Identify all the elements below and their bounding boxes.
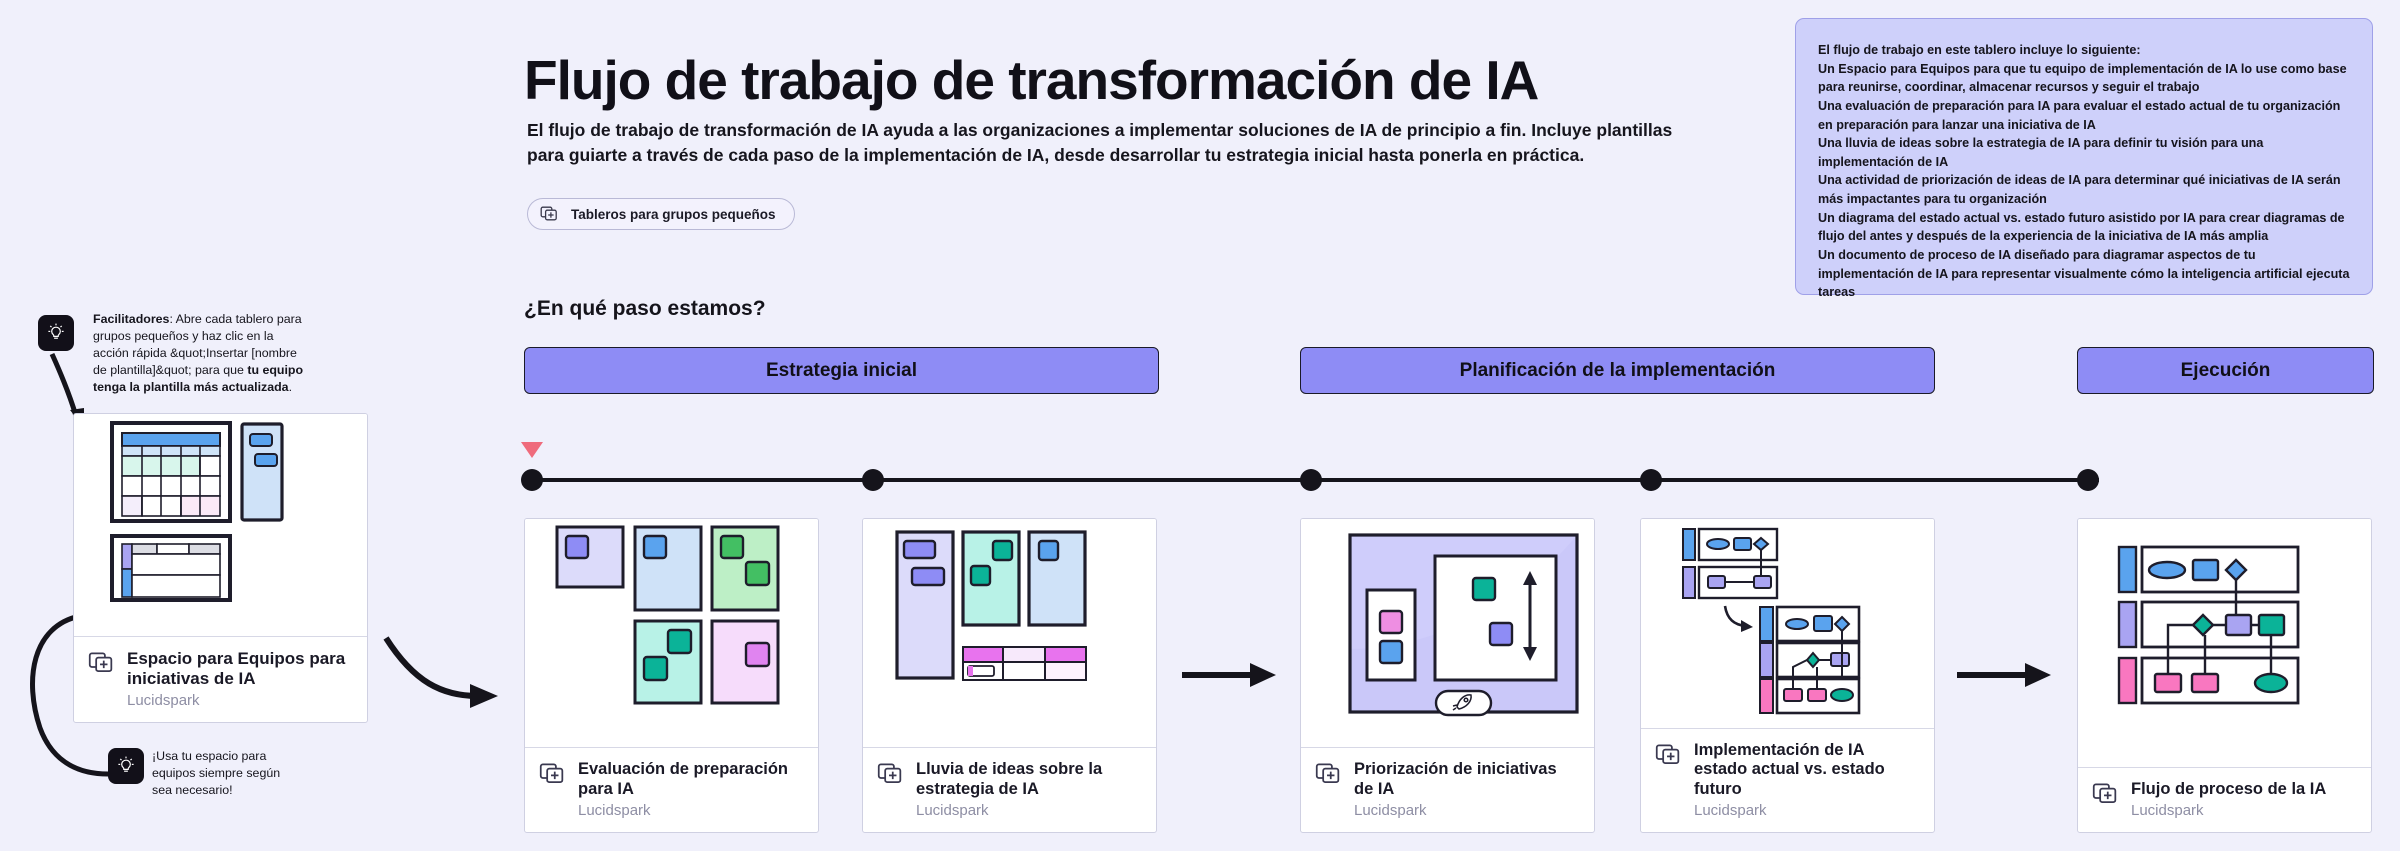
template-card-estado-actual-futuro[interactable]: Implementación de IA estado actual vs. e… bbox=[1640, 518, 1935, 833]
template-card-evaluacion-preparacion[interactable]: Evaluación de preparación para IA Lucids… bbox=[524, 518, 819, 833]
template-card-name: Flujo de proceso de la IA bbox=[2131, 780, 2326, 799]
boards-plus-icon bbox=[877, 760, 905, 788]
template-card-source: Lucidspark bbox=[127, 692, 353, 709]
template-thumbnail bbox=[1301, 519, 1594, 747]
template-card-priorizacion[interactable]: Priorización de iniciativas de IA Lucids… bbox=[1300, 518, 1595, 833]
boards-plus-icon bbox=[1655, 741, 1683, 769]
template-card-espacio-equipos[interactable]: Espacio para Equipos para iniciativas de… bbox=[73, 413, 368, 723]
timeline-dot-1[interactable] bbox=[521, 469, 543, 491]
phase-label: Planificación de la implementación bbox=[1460, 360, 1776, 382]
template-card-meta: Lluvia de ideas sobre la estrategia de I… bbox=[863, 747, 1156, 832]
template-card-name: Implementación de IA estado actual vs. e… bbox=[1694, 741, 1920, 799]
info-line-5: Un diagrama del estado actual vs. estado… bbox=[1818, 209, 2352, 246]
team-space-note-text: ¡Usa tu espacio para equipos siempre seg… bbox=[152, 748, 302, 799]
info-box: El flujo de trabajo en este tablero incl… bbox=[1795, 18, 2373, 295]
template-card-source: Lucidspark bbox=[2131, 802, 2326, 819]
template-thumbnail bbox=[1641, 519, 1934, 728]
template-thumbnail bbox=[74, 414, 367, 636]
template-card-flujo-proceso[interactable]: Flujo de proceso de la IA Lucidspark bbox=[2077, 518, 2372, 833]
boards-plus-icon bbox=[539, 760, 567, 788]
facilitator-note-end: . bbox=[289, 380, 292, 394]
template-card-meta: Evaluación de preparación para IA Lucids… bbox=[525, 747, 818, 832]
phase-label: Ejecución bbox=[2181, 360, 2271, 382]
template-card-meta: Flujo de proceso de la IA Lucidspark bbox=[2078, 767, 2371, 832]
info-line-4: Una actividad de priorización de ideas d… bbox=[1818, 171, 2352, 208]
phase-label: Estrategia inicial bbox=[766, 360, 917, 382]
info-line-3: Una lluvia de ideas sobre la estrategia … bbox=[1818, 134, 2352, 171]
template-card-name: Espacio para Equipos para iniciativas de… bbox=[127, 649, 353, 689]
lightbulb-icon bbox=[38, 315, 74, 351]
phase-header-ejecucion[interactable]: Ejecución bbox=[2077, 347, 2374, 394]
template-card-source: Lucidspark bbox=[578, 802, 804, 819]
timeline-dot-3[interactable] bbox=[1300, 469, 1322, 491]
template-card-meta: Priorización de iniciativas de IA Lucids… bbox=[1301, 747, 1594, 832]
section-question: ¿En qué paso estamos? bbox=[524, 297, 766, 321]
template-thumbnail bbox=[525, 519, 818, 747]
phase-header-estrategia-inicial[interactable]: Estrategia inicial bbox=[524, 347, 1159, 394]
template-card-meta: Espacio para Equipos para iniciativas de… bbox=[74, 636, 367, 722]
page-subtitle: El flujo de trabajo de transformación de… bbox=[527, 118, 1707, 168]
info-line-6: Un documento de proceso de IA diseñado p… bbox=[1818, 246, 2352, 302]
template-thumbnail bbox=[863, 519, 1156, 747]
template-thumbnail bbox=[2078, 519, 2371, 767]
template-card-source: Lucidspark bbox=[1694, 802, 1920, 819]
timeline-dot-4[interactable] bbox=[1640, 469, 1662, 491]
facilitator-note-prefix: Facilitadores bbox=[93, 312, 169, 326]
chip-label: Tableros para grupos pequeños bbox=[571, 207, 776, 222]
boards-plus-icon bbox=[2092, 780, 2120, 808]
current-step-marker bbox=[521, 442, 543, 458]
board-canvas: Flujo de trabajo de transformación de IA… bbox=[0, 0, 2400, 851]
connector-arrow-icon bbox=[1955, 655, 2057, 695]
boards-plus-icon bbox=[540, 204, 560, 224]
info-line-2: Una evaluación de preparación para IA pa… bbox=[1818, 97, 2352, 134]
boards-plus-icon bbox=[1315, 760, 1343, 788]
template-card-lluvia-ideas[interactable]: Lluvia de ideas sobre la estrategia de I… bbox=[862, 518, 1157, 833]
template-card-source: Lucidspark bbox=[1354, 802, 1580, 819]
template-card-name: Evaluación de preparación para IA bbox=[578, 760, 804, 799]
timeline-dot-5[interactable] bbox=[2077, 469, 2099, 491]
template-card-meta: Implementación de IA estado actual vs. e… bbox=[1641, 728, 1934, 832]
connector-arrow-icon bbox=[382, 630, 512, 720]
template-card-name: Lluvia de ideas sobre la estrategia de I… bbox=[916, 760, 1142, 799]
phase-header-planificacion[interactable]: Planificación de la implementación bbox=[1300, 347, 1935, 394]
small-group-boards-chip[interactable]: Tableros para grupos pequeños bbox=[527, 198, 795, 230]
boards-plus-icon bbox=[88, 649, 116, 677]
template-card-source: Lucidspark bbox=[916, 802, 1142, 819]
connector-arrow-icon bbox=[1180, 655, 1282, 695]
info-line-1: Un Espacio para Equipos para que tu equi… bbox=[1818, 60, 2352, 97]
timeline-dot-2[interactable] bbox=[862, 469, 884, 491]
info-line-0: El flujo de trabajo en este tablero incl… bbox=[1818, 41, 2352, 60]
page-title: Flujo de trabajo de transformación de IA bbox=[524, 48, 1538, 112]
template-card-name: Priorización de iniciativas de IA bbox=[1354, 760, 1580, 799]
